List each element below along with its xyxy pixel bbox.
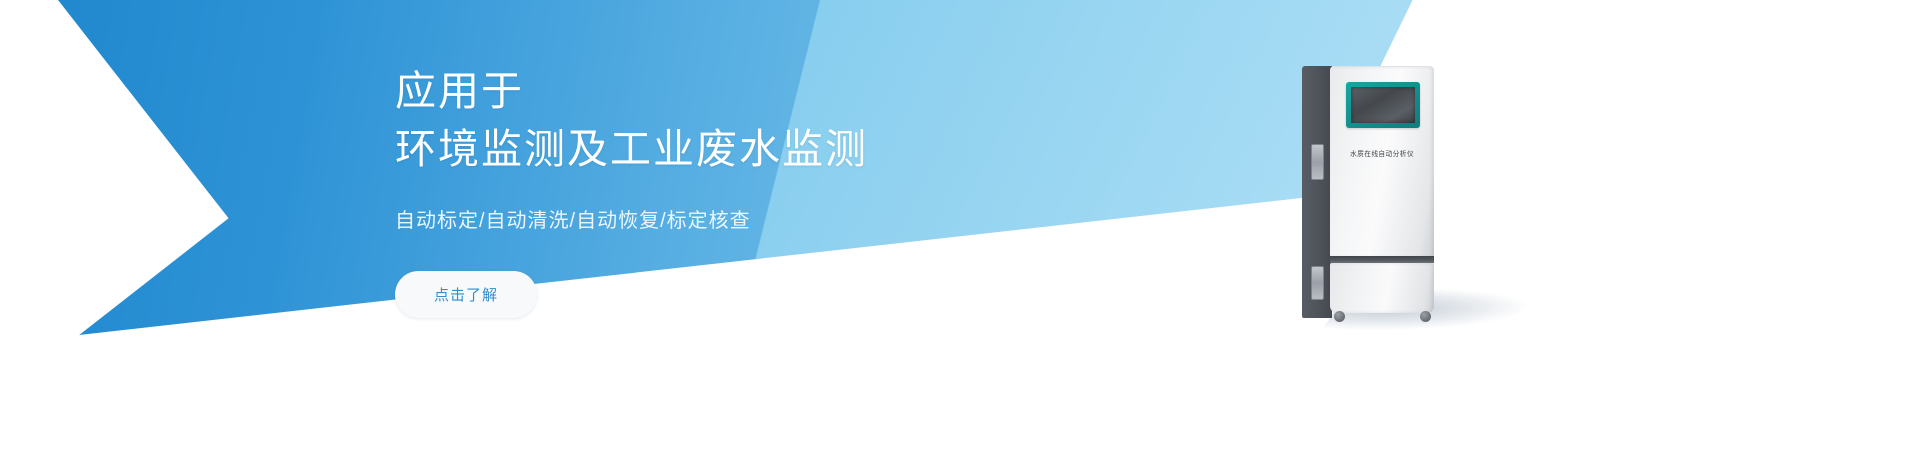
banner-copy: 应用于 环境监测及工业废水监测 自动标定/自动清洗/自动恢复/标定核查 点击了解 [395, 62, 1035, 318]
cabinet-seam [1330, 256, 1434, 263]
upper-cabinet-door: 水质在线自动分析仪 [1330, 66, 1434, 257]
upper-door-handle [1311, 144, 1324, 180]
hero-banner: 应用于 环境监测及工业废水监测 自动标定/自动清洗/自动恢复/标定核查 点击了解… [0, 0, 1920, 450]
caster-wheel-left [1334, 311, 1345, 322]
lower-door-handle [1311, 266, 1324, 300]
display-screen [1351, 87, 1415, 123]
product-side-panel [1302, 66, 1332, 318]
page-title: 应用于 环境监测及工业废水监测 [395, 62, 1035, 178]
lower-cabinet-door [1330, 263, 1434, 313]
learn-more-button[interactable]: 点击了解 [395, 271, 537, 318]
display-bezel [1346, 82, 1420, 128]
product-image-water-analyzer: 水质在线自动分析仪 [1302, 62, 1442, 324]
caster-wheel-right [1420, 311, 1431, 322]
product-label: 水质在线自动分析仪 [1332, 149, 1432, 159]
headline-line-1: 应用于 [395, 62, 1035, 120]
headline-line-2: 环境监测及工业废水监测 [395, 120, 1035, 178]
banner-subtitle: 自动标定/自动清洗/自动恢复/标定核查 [395, 204, 1035, 233]
